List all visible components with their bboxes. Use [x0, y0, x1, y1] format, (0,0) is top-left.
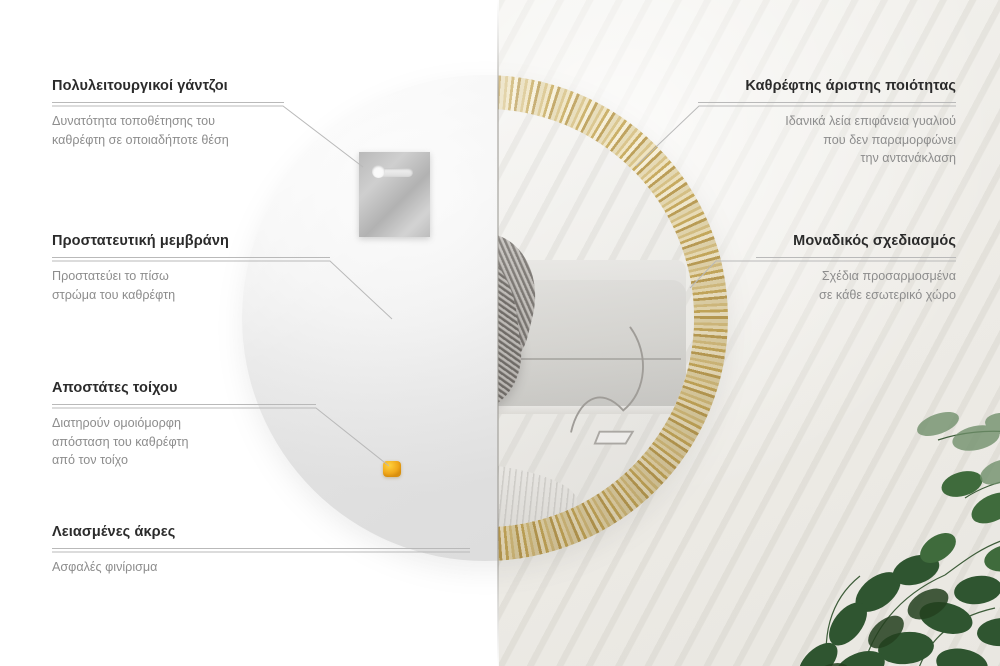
- callout-unique-design-title: Μοναδικός σχεδιασμός: [756, 233, 956, 250]
- callout-membrane: Προστατευτική μεμβράνη Προστατεύει το πί…: [52, 233, 330, 304]
- callout-edges-description: Ασφαλές φινίρισμα: [52, 558, 470, 576]
- callout-membrane-description: Προστατεύει το πίσωστρώμα του καθρέφτη: [52, 267, 330, 304]
- callout-spacers-title: Αποστάτες τοίχου: [52, 380, 316, 397]
- reflection-floor-lamp-icon: [544, 318, 669, 460]
- callout-spacers-rule: [52, 404, 316, 405]
- callout-quality-glass-description: Ιδανικά λεία επιφάνεια γυαλιούπου δεν πα…: [698, 112, 956, 167]
- callout-spacers: Αποστάτες τοίχου Διατηρούν ομοιόμορφηαπό…: [52, 380, 316, 470]
- callout-unique-design: Μοναδικός σχεδιασμός Σχέδια προσαρμοσμέν…: [756, 233, 956, 304]
- callout-membrane-rule: [52, 257, 330, 258]
- callout-quality-glass: Καθρέφτης άριστης ποιότητας Ιδανικά λεία…: [698, 78, 956, 168]
- callout-edges: Λειασμένες άκρες Ασφαλές φινίρισμα: [52, 524, 470, 577]
- eucalyptus-leaves-decoration: [710, 380, 1000, 666]
- keyhole-slot-icon: [377, 168, 413, 177]
- wall-spacer-pad: [383, 461, 401, 477]
- callout-hooks: Πολυλειτουργικοί γάντζοι Δυνατότητα τοπο…: [52, 78, 284, 149]
- callout-quality-glass-title: Καθρέφτης άριστης ποιότητας: [698, 78, 956, 95]
- callout-hooks-rule: [52, 102, 284, 103]
- callout-edges-rule: [52, 548, 470, 549]
- callout-spacers-description: Διατηρούν ομοιόμορφηαπόσταση του καθρέφτ…: [52, 414, 316, 469]
- callout-edges-title: Λειασμένες άκρες: [52, 524, 470, 541]
- callout-unique-design-rule: [756, 257, 956, 258]
- infographic-canvas: Πολυλειτουργικοί γάντζοι Δυνατότητα τοπο…: [0, 0, 1000, 666]
- hanging-hook-plate: [359, 152, 430, 237]
- round-mirror: [242, 75, 728, 561]
- callout-hooks-title: Πολυλειτουργικοί γάντζοι: [52, 78, 284, 95]
- callout-membrane-title: Προστατευτική μεμβράνη: [52, 233, 330, 250]
- callout-unique-design-description: Σχέδια προσαρμοσμένασε κάθε εσωτερικό χώ…: [756, 267, 956, 304]
- callout-quality-glass-rule: [698, 102, 956, 103]
- callout-hooks-description: Δυνατότητα τοποθέτησης τουκαθρέφτη σε οπ…: [52, 112, 284, 149]
- panel-divider: [497, 0, 499, 666]
